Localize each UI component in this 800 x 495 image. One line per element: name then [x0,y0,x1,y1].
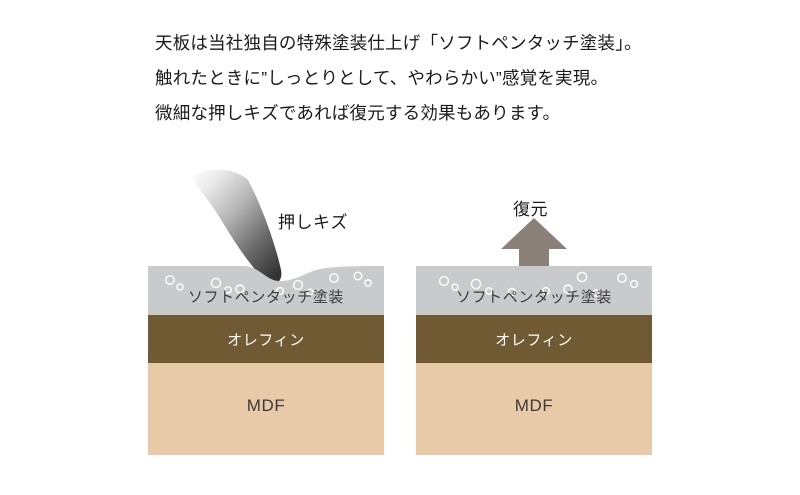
right-core-label: MDF [416,396,652,416]
left-coating-layer: ソフトペンタッチ塗装 [148,264,384,315]
left-core-layer: MDF [148,363,384,455]
right-diagram: 復元 ソフトペンタッチ塗装 [416,170,652,455]
right-olefin-label: オレフィン [416,329,652,350]
left-diagram: 押しキズ ソフトペンタッチ塗装 オレフィン [148,170,384,455]
right-olefin-layer: オレフィン [416,315,652,363]
headline-line-2: 触れたときに”しっとりとして、やわらかい”感覚を実現。 [155,61,675,96]
headline-line-1: 天板は当社独自の特殊塗装仕上げ「ソフトペンタッチ塗装」。 [155,26,675,61]
left-callout-label: 押しキズ [278,208,348,233]
page-headline: 天板は当社独自の特殊塗装仕上げ「ソフトペンタッチ塗装」。 触れたときに”しっとり… [155,26,675,131]
headline-line-3: 微細な押しキズであれば復元する効果もあります。 [155,96,675,131]
right-coating-label: ソフトペンタッチ塗装 [416,286,652,307]
right-core-layer: MDF [416,363,652,455]
right-coating-layer: ソフトペンタッチ塗装 [416,264,652,315]
left-olefin-label: オレフィン [148,329,384,350]
left-core-label: MDF [148,396,384,416]
up-arrow-icon [501,218,567,266]
right-callout-label: 復元 [513,195,548,220]
left-coating-label: ソフトペンタッチ塗装 [148,286,384,307]
diagram-canvas: 天板は当社独自の特殊塗装仕上げ「ソフトペンタッチ塗装」。 触れたときに”しっとり… [0,0,800,495]
left-olefin-layer: オレフィン [148,315,384,363]
